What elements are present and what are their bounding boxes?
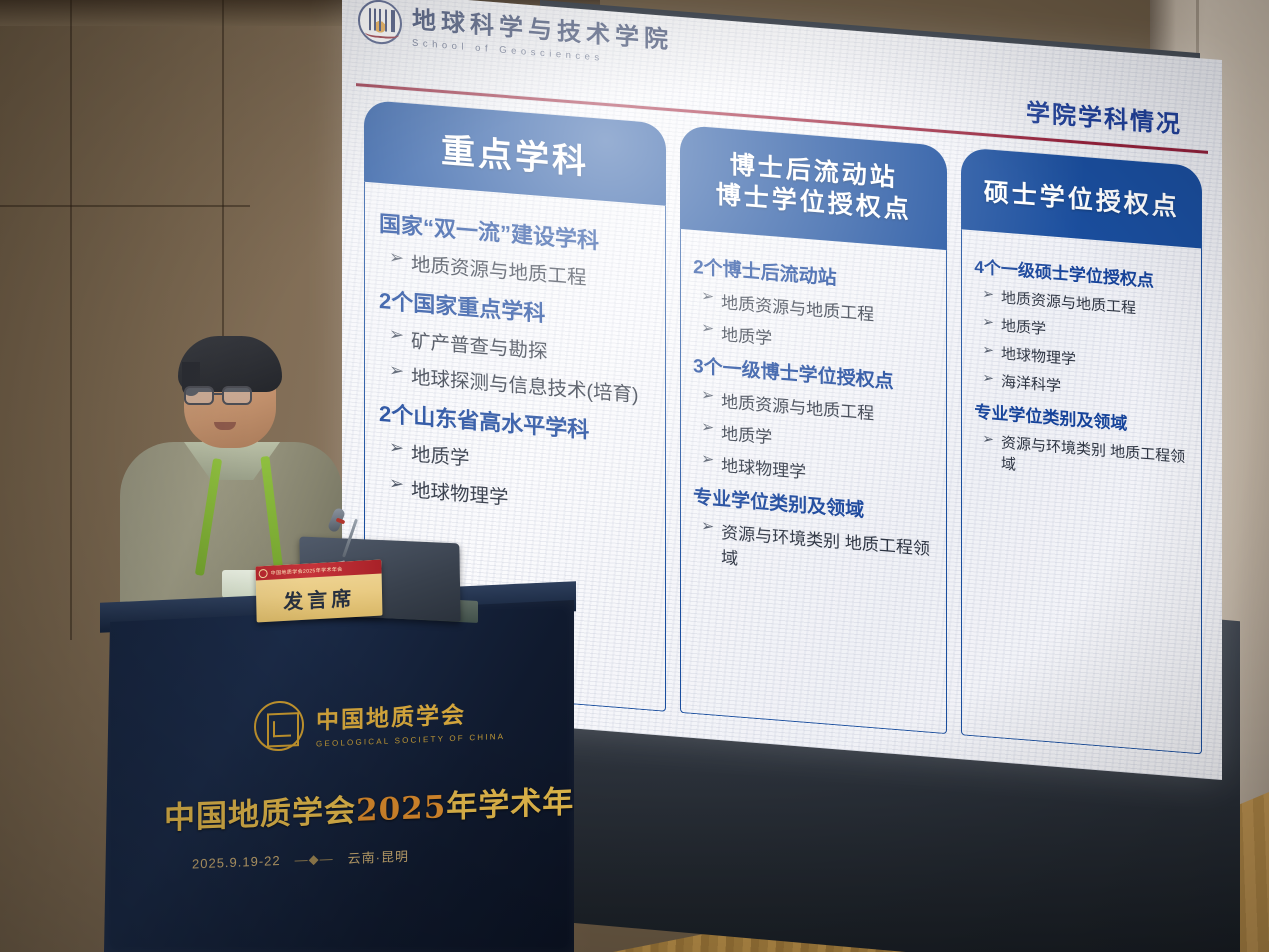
column-postdoc-doctoral: 博士后流动站 博士学位授权点 2个博士后流动站 ➢ 地质资源与地质工程 ➢ 地质… [680, 125, 947, 734]
wall-seam-vertical-2 [222, 0, 224, 350]
conference-photo-scene: 地球科学与技术学院 School of Geosciences 学院学科情况 重… [0, 0, 1269, 952]
column-3-body: 4个一级硕士学位授权点 ➢ 地质资源与地质工程 ➢ 地质学 ➢ 地球物理学 [961, 229, 1202, 754]
list-item-label: 地质资源与地质工程 [721, 387, 874, 424]
eyeglasses-bridge [214, 393, 224, 395]
list-item-label: 地球物理学 [1001, 342, 1076, 369]
list-item-label: 地质学 [721, 320, 772, 349]
list-item-label: 矿产普查与勘探 [411, 324, 548, 364]
bullet-arrow-icon: ➢ [982, 285, 994, 303]
event-title-pre: 中国地质学会 [164, 793, 356, 837]
column-master-degree: 硕士学位授权点 4个一级硕士学位授权点 ➢ 地质资源与地质工程 ➢ 地质学 ➢ [961, 147, 1202, 754]
column-2-body: 2个博士后流动站 ➢ 地质资源与地质工程 ➢ 地质学 3个一级博士学位授权点 ➢ [680, 229, 947, 734]
geological-society-seal-icon [254, 700, 304, 752]
subtitle-divider-icon: —◆— [295, 850, 334, 868]
bullet-arrow-icon: ➢ [389, 359, 404, 383]
list-item-label: 地质学 [411, 437, 470, 471]
nameplate-banner-text: 中国地质学会2025年学术年会 [271, 565, 343, 576]
bullet-arrow-icon: ➢ [701, 517, 714, 538]
bullet-arrow-icon: ➢ [701, 418, 714, 439]
society-name-en: GEOLOGICAL SOCIETY OF CHINA [316, 731, 505, 748]
list-item-label: 资源与环境类别 地质工程领域 [721, 518, 936, 585]
speaker-nameplate: 中国地质学会2025年学术年会 发言席 [256, 559, 383, 622]
bullet-arrow-icon: ➢ [982, 341, 994, 359]
nameplate-label: 发言席 [256, 573, 383, 622]
list-item-label: 地质学 [1001, 314, 1046, 339]
list-item: ➢ 资源与环境类别 地质工程领域 [982, 430, 1191, 489]
wall-seam-horizontal-1 [0, 205, 250, 207]
podium-front-panel: 中国地质学会 GEOLOGICAL SOCIETY OF CHINA 中国地质学… [104, 600, 574, 952]
bullet-arrow-icon: ➢ [982, 313, 994, 331]
list-item-label: 地质资源与地质工程 [721, 288, 874, 325]
list-item-label: 海洋科学 [1001, 370, 1061, 396]
list-item-label: 地球物理学 [721, 451, 806, 483]
event-location: 云南·昆明 [348, 846, 409, 867]
list-item-label: 地球物理学 [411, 473, 509, 510]
wall-seam-vertical-1 [70, 0, 72, 640]
list-item-label: 地质资源与地质工程 [411, 247, 587, 290]
event-date: 2025.9.19-22 [192, 853, 281, 872]
bullet-arrow-icon: ➢ [389, 323, 404, 347]
list-item: ➢ 资源与环境类别 地质工程领域 [701, 517, 936, 586]
bullet-arrow-icon: ➢ [701, 386, 714, 407]
list-item-label: 资源与环境类别 地质工程领域 [1001, 431, 1191, 488]
school-of-geosciences-seal-icon [358, 0, 402, 45]
bullet-arrow-icon: ➢ [701, 319, 714, 340]
event-subtitle: 2025.9.19-22 —◆— 云南·昆明 [192, 839, 572, 873]
list-item-label: 地质资源与地质工程 [1001, 286, 1136, 318]
bullet-arrow-icon: ➢ [389, 436, 404, 460]
bullet-arrow-icon: ➢ [982, 369, 994, 387]
bullet-arrow-icon: ➢ [701, 450, 714, 471]
list-item-label: 地质学 [721, 419, 772, 448]
eyeglasses-icon [184, 386, 214, 405]
speaker-hair [178, 336, 282, 392]
society-name-cn: 中国地质学会 [316, 693, 505, 735]
bullet-arrow-icon: ➢ [982, 430, 994, 448]
event-title: 中国地质学会2025年学术年会 [164, 777, 564, 838]
eyeglasses-icon [222, 386, 252, 405]
bullet-arrow-icon: ➢ [389, 472, 404, 496]
slide-title: 学院学科情况 [1026, 92, 1182, 139]
nameplate-seal-icon [259, 568, 268, 578]
bullet-arrow-icon: ➢ [701, 287, 714, 308]
bullet-arrow-icon: ➢ [389, 246, 404, 270]
society-logo: 中国地质学会 GEOLOGICAL SOCIETY OF CHINA [254, 692, 505, 752]
event-title-year: 2025 [356, 789, 446, 829]
